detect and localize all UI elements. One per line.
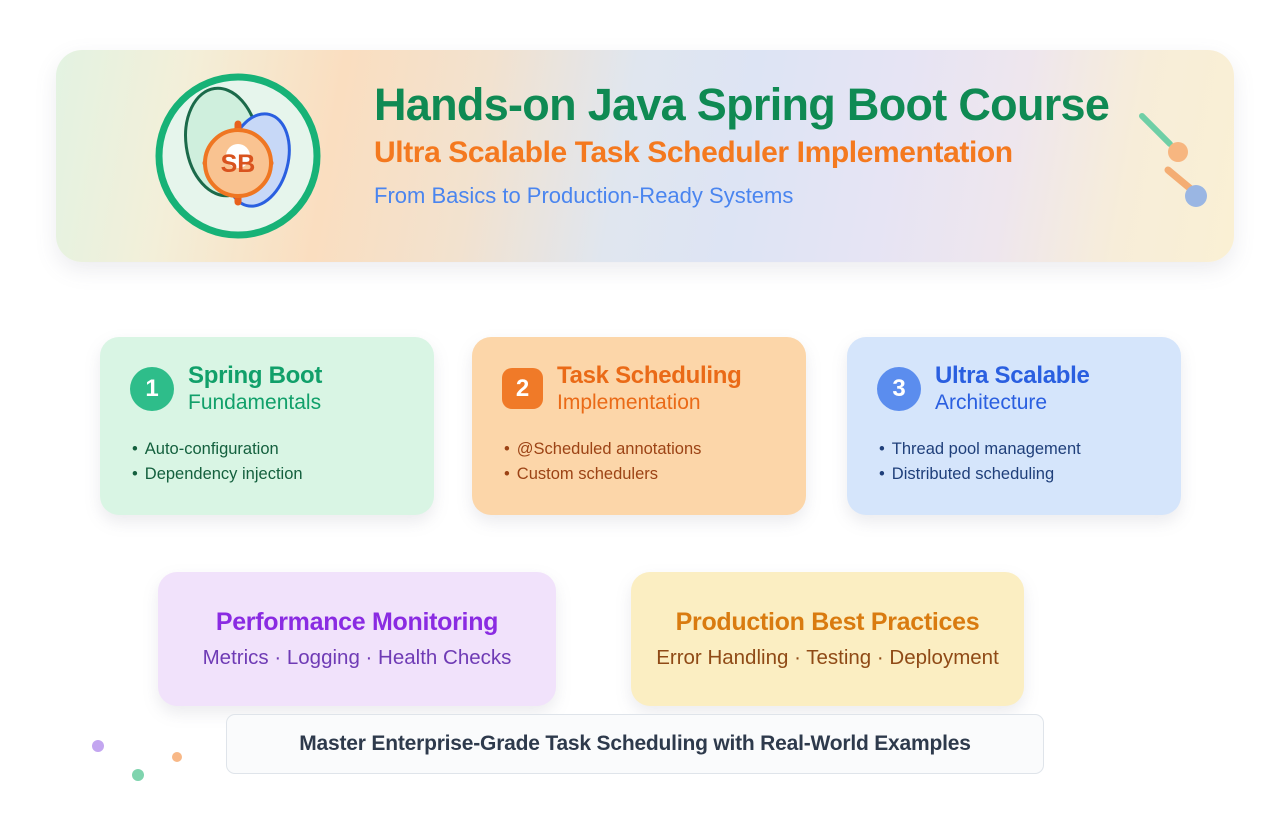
feature-card-subtitle: Metrics · Logging · Health Checks <box>203 646 512 670</box>
bullet-dot-icon: • <box>879 465 885 483</box>
header-text-block: Hands-on Java Spring Boot Course Ultra S… <box>374 80 1109 212</box>
infographic-root: SB Hands-on Java Spring Boot Course Ultr… <box>0 0 1280 827</box>
card-subtitle: Fundamentals <box>188 392 322 415</box>
list-item: •@Scheduled annotations <box>504 437 784 463</box>
feature-card-production-best-practices[interactable]: Production Best Practices Error Handling… <box>631 572 1024 706</box>
card-header: 1 Spring Boot Fundamentals <box>130 363 412 415</box>
list-item: •Distributed scheduling <box>879 462 1159 488</box>
card-bullet-list: •@Scheduled annotations •Custom schedule… <box>504 437 784 488</box>
header-banner: SB Hands-on Java Spring Boot Course Ultr… <box>56 50 1234 262</box>
decorative-dot-orange-icon <box>172 752 182 762</box>
card-header: 3 Ultra Scalable Architecture <box>877 363 1159 415</box>
decorative-dot-green-icon <box>132 769 144 781</box>
page-tagline: From Basics to Production-Ready Systems <box>374 179 1109 212</box>
bullet-dot-icon: • <box>504 440 510 458</box>
list-item-label: Auto-configuration <box>145 440 279 458</box>
card-header: 2 Task Scheduling Implementation <box>502 363 784 415</box>
topic-card-ultra-scalable[interactable]: 3 Ultra Scalable Architecture •Thread po… <box>847 337 1181 515</box>
feature-card-title: Production Best Practices <box>676 608 980 637</box>
card-number-badge: 3 <box>877 367 921 411</box>
card-number-label: 2 <box>516 375 529 403</box>
bullet-dot-icon: • <box>132 465 138 483</box>
bullet-dot-icon: • <box>879 440 885 458</box>
feature-card-subtitle: Error Handling · Testing · Deployment <box>656 646 999 670</box>
card-title-group: Task Scheduling Implementation <box>557 363 741 415</box>
bullet-dot-icon: • <box>504 465 510 483</box>
page-title: Hands-on Java Spring Boot Course <box>374 80 1109 130</box>
footer-banner: Master Enterprise-Grade Task Scheduling … <box>226 714 1044 774</box>
decorative-dot-purple-icon <box>92 740 104 752</box>
list-item-label: Custom schedulers <box>517 465 658 483</box>
logo-label: SB <box>221 150 256 178</box>
card-subtitle: Architecture <box>935 392 1090 415</box>
card-title-group: Ultra Scalable Architecture <box>935 363 1090 415</box>
bullet-dot-icon: • <box>132 440 138 458</box>
list-item-label: @Scheduled annotations <box>517 440 702 458</box>
list-item: •Dependency injection <box>132 462 412 488</box>
topic-card-task-scheduling[interactable]: 2 Task Scheduling Implementation •@Sched… <box>472 337 806 515</box>
feature-cards-row: Performance Monitoring Metrics · Logging… <box>0 572 1280 706</box>
spring-boot-logo-icon: SB <box>150 68 326 244</box>
list-item-label: Distributed scheduling <box>892 465 1054 483</box>
header-content: SB Hands-on Java Spring Boot Course Ultr… <box>56 50 1234 262</box>
card-number-label: 1 <box>145 375 158 403</box>
footer-text: Master Enterprise-Grade Task Scheduling … <box>299 732 970 756</box>
card-number-badge: 1 <box>130 367 174 411</box>
list-item: •Custom schedulers <box>504 462 784 488</box>
list-item-label: Thread pool management <box>892 440 1081 458</box>
feature-card-title: Performance Monitoring <box>216 608 498 637</box>
page-subtitle: Ultra Scalable Task Scheduler Implementa… <box>374 133 1109 172</box>
card-title: Ultra Scalable <box>935 363 1090 389</box>
decorative-connector-icon <box>1134 108 1220 218</box>
card-bullet-list: •Thread pool management •Distributed sch… <box>879 437 1159 488</box>
list-item-label: Dependency injection <box>145 465 303 483</box>
feature-card-performance-monitoring[interactable]: Performance Monitoring Metrics · Logging… <box>158 572 556 706</box>
card-title: Task Scheduling <box>557 363 741 389</box>
card-title-group: Spring Boot Fundamentals <box>188 363 322 415</box>
card-title: Spring Boot <box>188 363 322 389</box>
list-item: •Thread pool management <box>879 437 1159 463</box>
list-item: •Auto-configuration <box>132 437 412 463</box>
card-number-label: 3 <box>892 375 905 403</box>
card-subtitle: Implementation <box>557 392 741 415</box>
card-number-badge: 2 <box>502 368 543 409</box>
card-bullet-list: •Auto-configuration •Dependency injectio… <box>132 437 412 488</box>
topic-card-spring-boot[interactable]: 1 Spring Boot Fundamentals •Auto-configu… <box>100 337 434 515</box>
topic-cards-row: 1 Spring Boot Fundamentals •Auto-configu… <box>0 337 1280 515</box>
